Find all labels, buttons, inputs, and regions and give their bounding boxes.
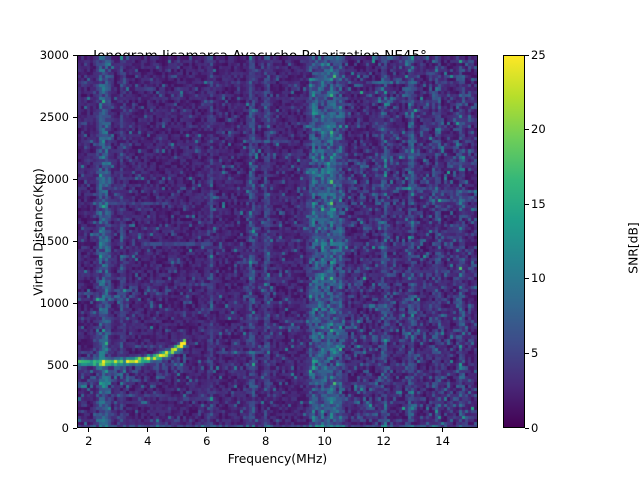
- x-tick-mark: [147, 428, 148, 432]
- colorbar-tick-label: 5: [531, 346, 538, 360]
- x-tick-label: 6: [187, 434, 227, 448]
- ionogram-heatmap-canvas: [78, 56, 478, 428]
- colorbar-tick-label: 15: [531, 197, 546, 211]
- colorbar-ticks: 0510152025: [525, 55, 605, 428]
- x-tick-mark: [442, 428, 443, 432]
- y-tick-mark: [73, 241, 77, 242]
- colorbar-label: SNR[dB]: [627, 62, 640, 435]
- y-tick-mark: [73, 303, 77, 304]
- y-axis-label: Virtual Distance(Km): [32, 46, 46, 419]
- x-tick-label: 10: [305, 434, 345, 448]
- x-tick-label: 14: [423, 434, 463, 448]
- y-tick-mark: [73, 365, 77, 366]
- colorbar-tick-label: 10: [531, 271, 546, 285]
- colorbar-tick-mark: [525, 204, 529, 205]
- colorbar-tick-mark: [525, 278, 529, 279]
- colorbar-tick-label: 25: [531, 48, 546, 62]
- colorbar-tick-mark: [525, 353, 529, 354]
- y-tick-label: 500: [47, 358, 69, 372]
- colorbar-tick-label: 20: [531, 122, 546, 136]
- x-tick-mark: [265, 428, 266, 432]
- y-tick-label: 0: [62, 421, 69, 435]
- x-tick-mark: [88, 428, 89, 432]
- x-tick-mark: [383, 428, 384, 432]
- colorbar-tick-mark: [525, 55, 529, 56]
- y-tick-mark: [73, 55, 77, 56]
- colorbar-gradient: [504, 56, 524, 427]
- ionogram-plot-area[interactable]: [77, 55, 478, 428]
- snr-colorbar[interactable]: [503, 55, 525, 428]
- x-tick-mark: [324, 428, 325, 432]
- y-tick-mark: [73, 117, 77, 118]
- x-tick-label: 4: [128, 434, 168, 448]
- x-axis-label: Frequency(MHz): [77, 452, 478, 466]
- colorbar-tick-label: 0: [531, 421, 538, 435]
- x-tick-label: 12: [364, 434, 404, 448]
- ionogram-figure: Ionogram Jicamarca-Ayacucho Polarization…: [0, 0, 640, 480]
- y-tick-mark: [73, 179, 77, 180]
- x-tick-label: 2: [69, 434, 109, 448]
- x-tick-mark: [206, 428, 207, 432]
- colorbar-tick-mark: [525, 428, 529, 429]
- colorbar-tick-mark: [525, 129, 529, 130]
- x-tick-label: 8: [246, 434, 286, 448]
